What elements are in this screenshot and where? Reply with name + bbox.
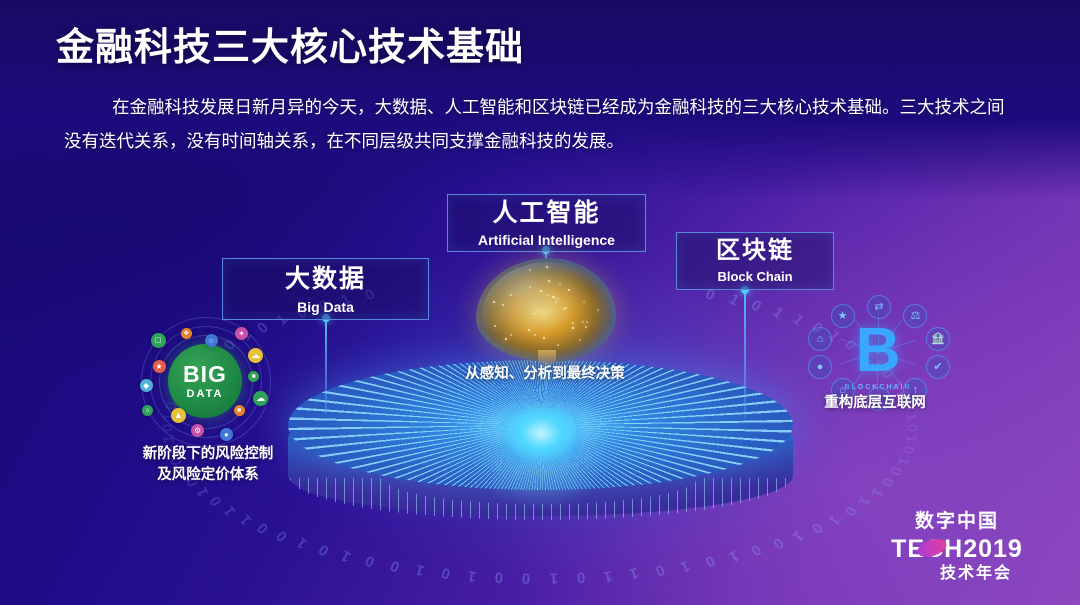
brain-spark — [583, 301, 585, 303]
big-data-node-icon: ○ — [205, 334, 218, 347]
label-ai-cn: 人工智能 — [448, 201, 645, 226]
disc-core — [501, 408, 581, 464]
logo-line-1: 数字中国 — [872, 510, 1042, 534]
big-data-node-icon: ⚙ — [191, 424, 204, 437]
brain-spark — [494, 325, 496, 327]
big-data-node-icon: ☁ — [253, 391, 268, 406]
big-data-node-icon: ❖ — [181, 328, 192, 339]
big-data-node-icon: □ — [151, 333, 166, 348]
brain-spark — [582, 321, 584, 323]
label-block-chain-cn: 区块链 — [677, 239, 833, 263]
block-chain-b-glyph: B — [847, 314, 909, 388]
caption-block-chain: 重构底层互联网 — [790, 393, 960, 414]
central-platform-disc — [288, 360, 793, 540]
block-chain-node-icon: ● — [808, 355, 832, 379]
brain-spark — [529, 286, 531, 288]
caption-big-data-line2: 及风险定价体系 — [108, 465, 308, 486]
brain-spark — [510, 294, 512, 296]
logo-wordmark-text: TECH2019 — [891, 535, 1023, 563]
block-chain-node-icon: ★ — [831, 304, 855, 328]
brain-spark — [597, 309, 599, 311]
brain-spark — [559, 283, 561, 285]
logo-line-2: TECH2019 — [891, 534, 1023, 564]
logo-line-3: 技术年会 — [910, 564, 1042, 583]
label-box-artificial-intelligence[interactable]: 人工智能 Artificial Intelligence — [447, 194, 646, 252]
conference-logo: 数字中国 TECH2019 技术年会 — [872, 510, 1042, 583]
big-data-node-icon: ⌂ — [142, 405, 153, 416]
block-chain-node-icon: ✔ — [926, 355, 950, 379]
label-big-data-cn: 大数据 — [223, 267, 428, 292]
brain-spark — [579, 339, 581, 341]
block-chain-node-icon: 🏦 — [926, 327, 950, 351]
brain-icon — [476, 258, 616, 362]
brain-spark — [548, 280, 550, 282]
caption-block-chain-line1: 重构底层互联网 — [790, 393, 960, 414]
label-ai-en: Artificial Intelligence — [448, 233, 645, 247]
big-data-node-icon: ✦ — [235, 327, 248, 340]
brain-spark — [568, 289, 570, 291]
caption-artificial-intelligence: 从感知、分析到最终决策 — [430, 364, 660, 385]
intro-paragraph: 在金融科技发展日新月异的今天，大数据、人工智能和区块链已经成为金融科技的三大核心… — [64, 90, 1016, 158]
page-title: 金融科技三大核心技术基础 — [56, 16, 524, 71]
label-box-big-data[interactable]: 大数据 Big Data — [222, 258, 429, 320]
label-big-data-en: Big Data — [223, 300, 428, 314]
brain-spark — [552, 296, 554, 298]
big-data-node-icon: ▲ — [171, 408, 186, 423]
block-chain-node-icon: ⇄ — [867, 295, 891, 319]
big-data-node-icon: ★ — [153, 360, 166, 373]
caption-big-data: 新阶段下的风险控制 及风险定价体系 — [108, 444, 308, 486]
block-chain-node-icon: ⌂ — [808, 327, 832, 351]
big-data-node-icon: ☁ — [248, 348, 263, 363]
label-box-block-chain[interactable]: 区块链 Block Chain — [676, 232, 834, 290]
big-data-node-icon: ◆ — [140, 379, 153, 392]
slide-root: 金融科技三大核心技术基础 在金融科技发展日新月异的今天，大数据、人工智能和区块链… — [0, 0, 1080, 605]
connector-line-block-chain — [744, 290, 746, 418]
brain-spark — [543, 337, 545, 339]
caption-ai-line1: 从感知、分析到最终决策 — [430, 364, 660, 385]
block-chain-node-icon: ⚖ — [903, 304, 927, 328]
big-data-node-icon: ■ — [234, 405, 245, 416]
brain-spark — [537, 309, 539, 311]
connector-line-big-data — [325, 318, 327, 414]
brain-spark — [557, 298, 559, 300]
brain-spark — [565, 307, 567, 309]
caption-big-data-line1: 新阶段下的风险控制 — [108, 444, 308, 465]
big-data-icon-cluster: BIG DATA ☁■●⚙▲⌂◆★□❖○✦☁■ — [128, 318, 288, 438]
label-block-chain-en: Block Chain — [677, 270, 833, 283]
brain-spark — [572, 327, 574, 329]
